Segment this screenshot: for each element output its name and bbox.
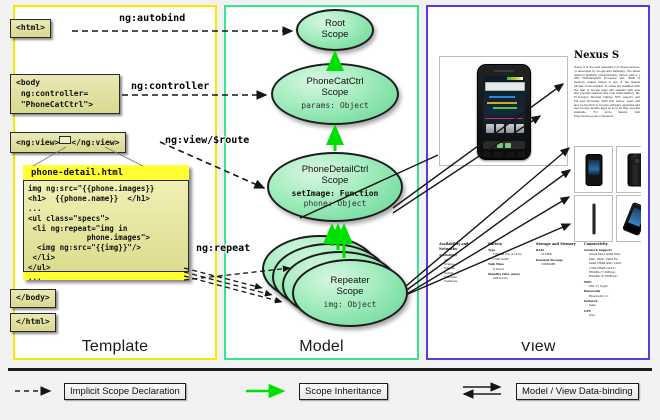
legend-label-data-binding: Model / View Data-binding — [516, 383, 639, 400]
view-page-title: Nexus S — [574, 50, 619, 61]
label-ng-view-route: ng:view/$route — [165, 135, 249, 146]
scope-phonecatctrl: PhoneCatCtrlScope params: Object — [271, 63, 399, 125]
label-ng-repeat: ng:repeat — [196, 243, 250, 254]
scope-phonedetailctrl-label: PhoneDetailCtrlScope — [302, 165, 369, 186]
label-ng-autobind: ng:autobind — [119, 13, 185, 24]
template-partial-note: phone-detail.html img ng:src="{{phone.im… — [23, 165, 189, 280]
thumbnail-front[interactable] — [574, 146, 613, 193]
spec-heading-1: Battery — [488, 242, 532, 247]
thumbnail-side-icon — [592, 203, 595, 234]
thumbnail-angle[interactable] — [616, 195, 641, 242]
scope-phonecatctrl-label: PhoneCatCtrlScope — [306, 77, 363, 98]
phone-deco-line-3 — [493, 107, 517, 109]
phone-screen — [483, 76, 525, 136]
phone-deco-line-2 — [487, 102, 517, 104]
legend-label-implicit-scope: Implicit Scope Declaration — [64, 383, 186, 400]
scope-root: RootScope — [296, 9, 374, 51]
thumbnail-back-icon — [627, 153, 641, 186]
legend-solid-green-arrow-icon — [245, 385, 293, 397]
legend-item-scope-inheritance: Scope Inheritance — [245, 382, 388, 400]
thumbnail-back[interactable] — [616, 146, 641, 193]
spec-val-3-3: false — [584, 303, 640, 307]
phone-hero-image-frame — [439, 56, 568, 166]
spec-val-3-2: Bluetooth 2.1 — [584, 294, 640, 298]
spec-val-2-1: 16384MB — [536, 262, 580, 266]
spec-val-1-2: 428 hours — [488, 276, 532, 280]
spec-heading-0: Availability and Networks — [439, 242, 483, 252]
phone-app-icons — [486, 124, 524, 133]
template-partial-filename: phone-detail.html — [23, 165, 189, 180]
spec-val-2-0: 512MB — [536, 252, 580, 256]
scope-phonecatctrl-prop-params: params: Object — [301, 101, 368, 111]
tag-ngview-open: <ng:view> — [16, 138, 59, 147]
phone-hardware-buttons — [483, 152, 525, 157]
thumbnail-angle-icon — [622, 201, 641, 236]
tag-html-open: <html> — [10, 19, 51, 38]
label-ng-controller: ng:controller — [131, 81, 209, 92]
ngview-slot-icon — [59, 136, 71, 144]
tag-html-close: </html> — [10, 313, 56, 332]
scope-repeater-prop-img: img: Object — [324, 300, 377, 310]
spec-val-3-0: Quad-band GSM 850, 900, 1800, 1900 Ex- b… — [584, 252, 640, 278]
template-partial-code: img ng:src="{{phone.images}} <h1> {{phon… — [23, 180, 189, 272]
spec-heading-2: Storage and Memory — [536, 242, 580, 247]
phone-deco-line-4 — [485, 118, 523, 119]
scope-root-label: RootScope — [322, 19, 349, 40]
phone-statusbar — [507, 77, 523, 80]
spec-group-battery: Battery Type Lithium Ion (Li-Ion) 1500 m… — [488, 242, 532, 281]
tag-body-close: </body> — [10, 289, 56, 308]
spec-group-connectivity: Connectivity Network Support Quad-band G… — [584, 242, 640, 318]
scope-repeater: RepeaterScope img: Object — [292, 259, 408, 327]
spec-group-availability: Availability and Networks Availability 3… — [439, 242, 483, 284]
phone-hero-image — [477, 64, 531, 160]
prop-setimage: setImage: Function — [292, 189, 379, 198]
scope-phonedetailctrl-props: setImage: Function phone: Object — [292, 189, 379, 209]
legend-item-data-binding: Model / View Data-binding — [462, 382, 639, 400]
thumbnail-front-icon — [585, 154, 602, 186]
legend-double-arrow-icon — [462, 383, 510, 399]
tag-ngview: <ng:view></ng:view> — [10, 132, 126, 153]
panel-template-title: Template — [15, 338, 215, 356]
legend-item-implicit-scope: Implicit Scope Declaration — [14, 382, 186, 400]
spec-val-0-1: Orange, Singtel, Sprint, T-Mobile, Vodaf… — [439, 262, 483, 284]
legend-label-scope-inheritance: Scope Inheritance — [299, 383, 388, 400]
phone-deco-line-1 — [489, 96, 515, 98]
scope-repeater-label: RepeaterScope — [330, 276, 369, 297]
phone-nav-bar — [483, 141, 525, 149]
spec-val-1-0: Lithium Ion (Li-Ion) 1500 mAH — [488, 252, 532, 261]
view-page-description: Nexus S is the next generation of Nexus … — [574, 66, 640, 119]
spec-val-3-4: true — [584, 313, 640, 317]
legend-dashed-arrow-icon — [14, 385, 58, 397]
view-rendered-page: Nexus S Nexus S is the next generation o… — [435, 14, 641, 342]
panel-model-title: Model — [226, 338, 417, 356]
prop-phone: phone: Object — [304, 199, 367, 208]
tag-body-open: <body ng:controller= "PhoneCatCtrl"> — [10, 74, 120, 114]
spec-heading-3: Connectivity — [584, 242, 640, 247]
thumbnail-side[interactable] — [574, 195, 613, 242]
phone-speaker-icon — [494, 70, 514, 72]
spec-val-3-1: 802.11 b/g/n — [584, 284, 640, 288]
scope-phonedetailctrl: PhoneDetailCtrlScope setImage: Function … — [267, 152, 403, 222]
spec-group-storage: Storage and Memory RAM 512MB Internal St… — [536, 242, 580, 267]
legend-divider — [8, 368, 652, 371]
spec-val-1-1: 6 hours — [488, 267, 532, 271]
phone-searchbar — [485, 82, 525, 91]
diagram-canvas: Template Model View <html> <body ng:cont… — [0, 0, 660, 420]
tag-ngview-close: </ng:view> — [71, 138, 119, 147]
